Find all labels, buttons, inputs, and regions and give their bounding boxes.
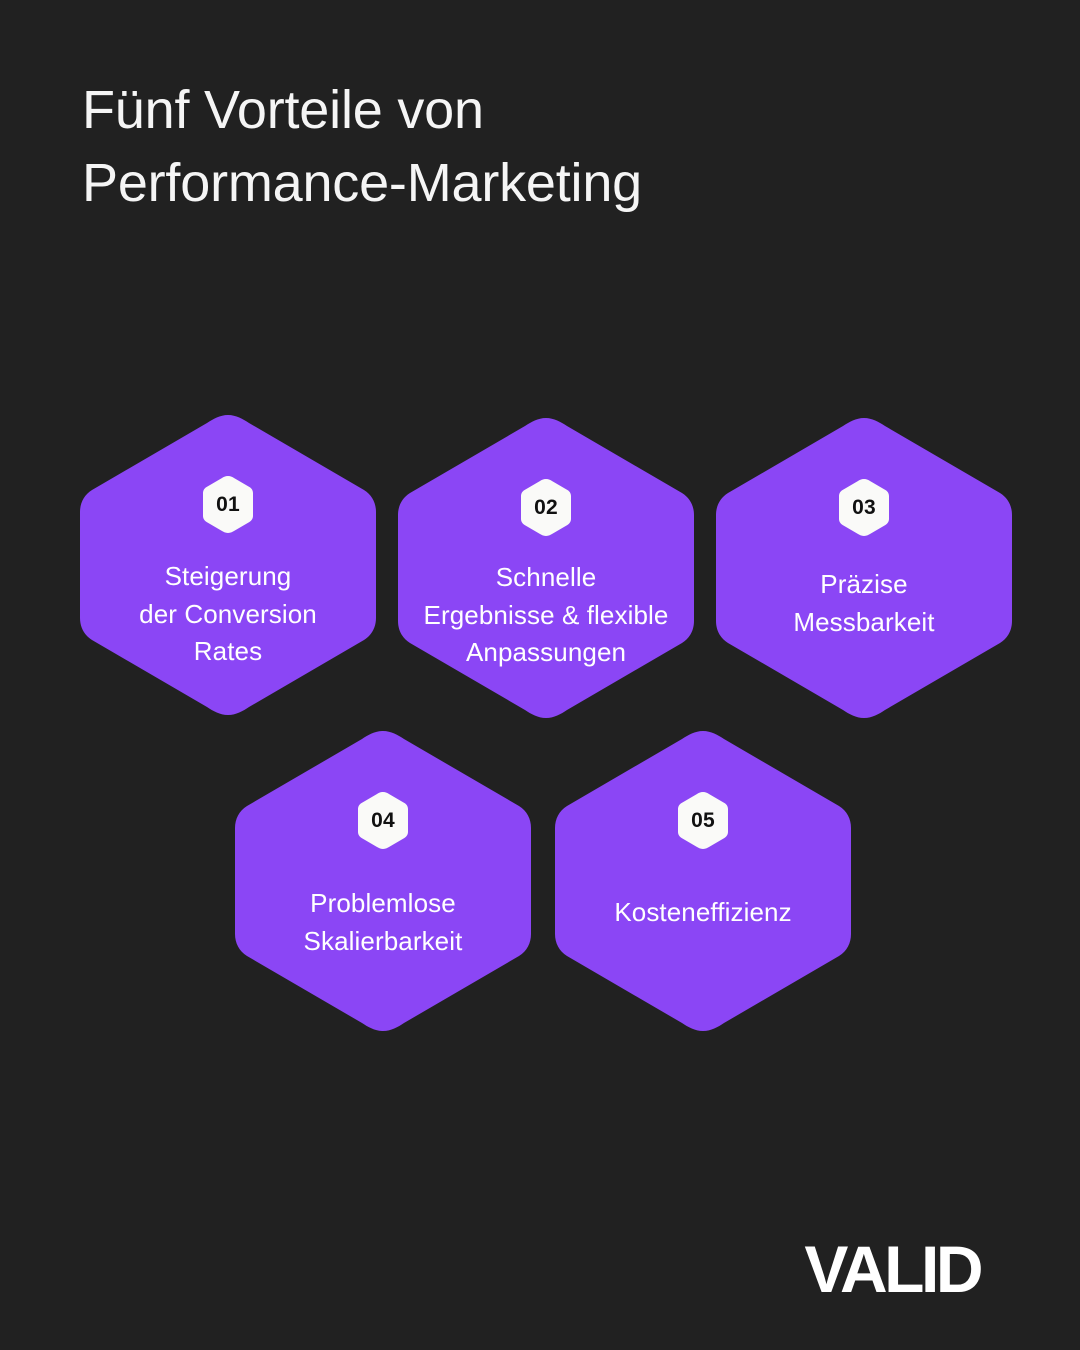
page-title: Fünf Vorteile von Performance-Marketing [82,74,902,221]
badge-number: 01 [216,494,240,515]
hexagon-label: Schnelle Ergebnisse & flexible Anpassung… [420,559,673,672]
brand-logo: VALID [804,1236,980,1302]
hexagon-content: 05 Kosteneffizienz [535,727,871,1035]
hexagon-content: 04 Problemlose Skalierbarkeit [215,727,551,1035]
hexagon-content: 03 Präzise Messbarkeit [696,414,1032,722]
number-badge: 03 [838,478,890,537]
badge-number: 04 [371,810,395,831]
hexagon-card-01[interactable]: 01 Steigerung der Conversion Rates [78,411,378,719]
hexagon-label: Steigerung der Conversion Rates [135,558,321,671]
badge-number: 05 [691,810,715,831]
hexagon-label: Problemlose Skalierbarkeit [300,885,467,960]
number-badge: 02 [520,478,572,537]
hexagon-card-05[interactable]: 05 Kosteneffizienz [553,727,853,1035]
hexagon-content: 02 Schnelle Ergebnisse & flexible Anpass… [378,414,714,722]
hexagon-label: Präzise Messbarkeit [789,566,938,641]
number-badge: 01 [202,475,254,534]
hexagon-card-02[interactable]: 02 Schnelle Ergebnisse & flexible Anpass… [396,414,696,722]
number-badge: 04 [357,791,409,850]
hexagon-card-03[interactable]: 03 Präzise Messbarkeit [714,414,1014,722]
number-badge: 05 [677,791,729,850]
hexagon-content: 01 Steigerung der Conversion Rates [60,411,396,719]
hexagon-label: Kosteneffizienz [610,894,795,932]
hexagon-card-04[interactable]: 04 Problemlose Skalierbarkeit [233,727,533,1035]
badge-number: 03 [852,497,876,518]
badge-number: 02 [534,497,558,518]
